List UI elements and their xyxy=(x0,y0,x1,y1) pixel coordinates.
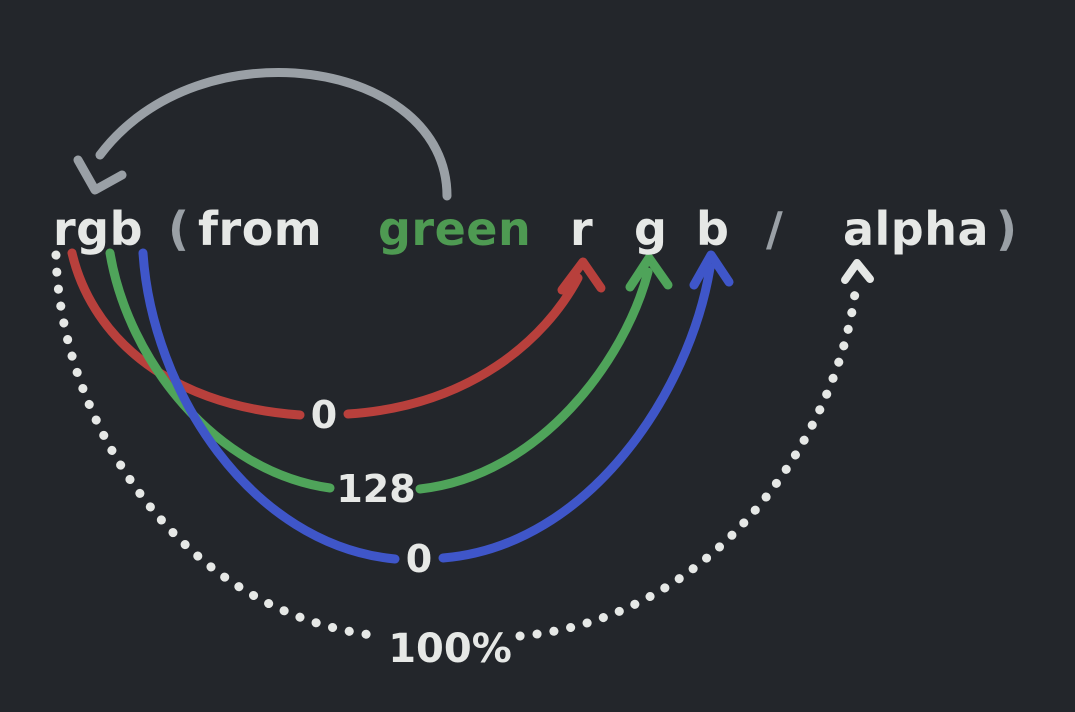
slash-separator: / xyxy=(766,202,783,256)
blue-channel-token: b xyxy=(696,202,729,256)
from-keyword: from xyxy=(198,202,322,256)
green-channel-token: g xyxy=(634,202,667,256)
alpha-arrowhead xyxy=(845,263,870,280)
alpha-token: alpha xyxy=(843,202,989,256)
diagram-canvas: rgb ( from green r g b / alpha ) 0 128 0… xyxy=(0,0,1075,712)
red-curve-right xyxy=(348,278,578,414)
close-paren: ) xyxy=(996,202,1018,256)
green-channel-arrow xyxy=(110,253,668,489)
relative-color-syntax-diagram: rgb ( from green r g b / alpha ) 0 128 0… xyxy=(0,0,1075,712)
red-value-label: 0 xyxy=(311,393,337,437)
red-channel-token: r xyxy=(570,202,593,256)
open-paren: ( xyxy=(168,202,190,256)
green-curve-right xyxy=(420,272,648,489)
green-value-label: 128 xyxy=(336,467,415,511)
red-curve-left xyxy=(72,253,300,415)
blue-curve-right xyxy=(443,268,710,558)
origin-arc-arrowhead xyxy=(78,160,122,190)
origin-arc-path xyxy=(100,72,447,196)
alpha-value-label: 100% xyxy=(388,626,512,672)
alpha-channel-arrow xyxy=(56,255,870,636)
red-channel-arrow xyxy=(72,253,601,415)
origin-color-green: green xyxy=(378,202,531,256)
function-name-rgb: rgb xyxy=(53,202,143,256)
origin-color-to-function-arrow xyxy=(78,72,447,196)
blue-value-label: 0 xyxy=(406,537,432,581)
